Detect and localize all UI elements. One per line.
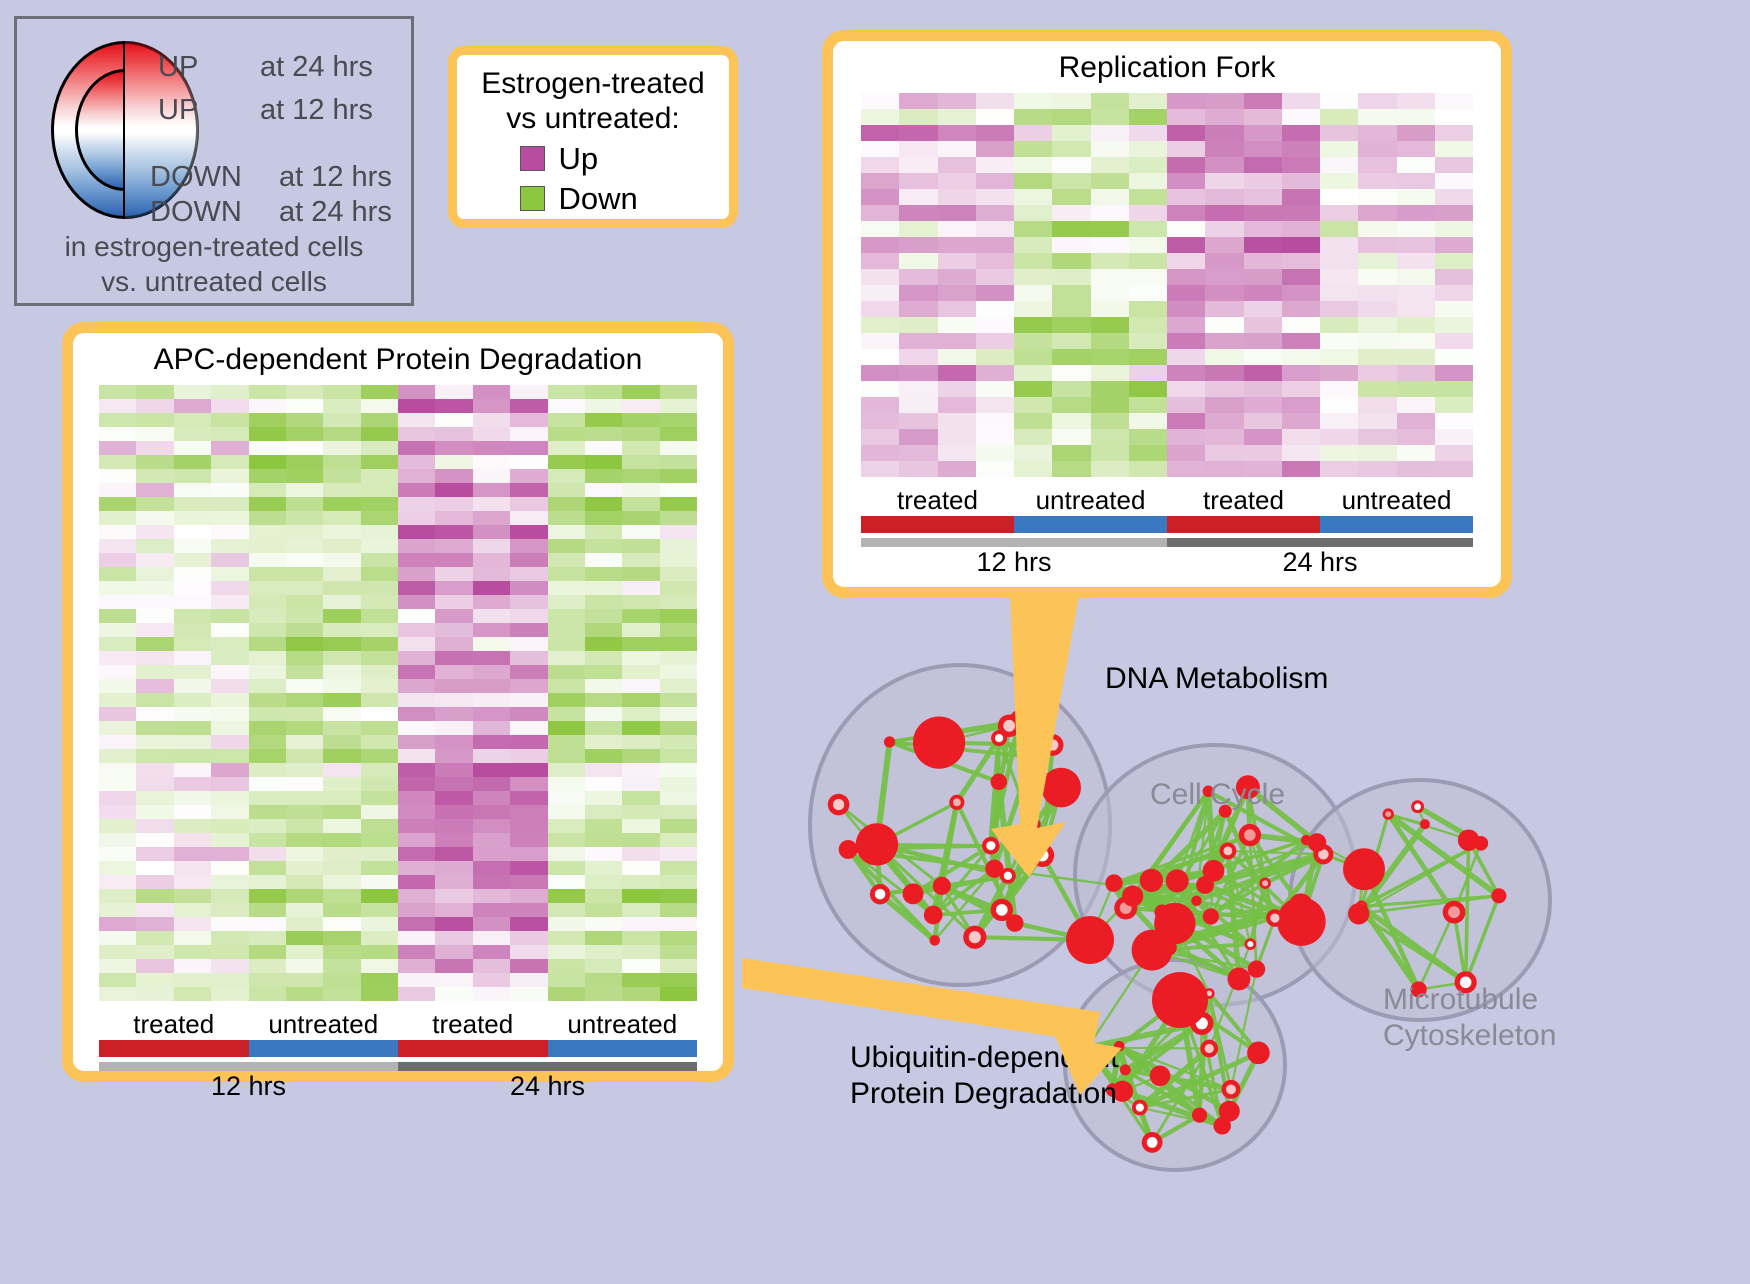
heatmap-cell (323, 931, 360, 945)
heatmap-cell (435, 819, 472, 833)
heatmap-cell (899, 141, 937, 157)
heatmap-cell (1205, 381, 1243, 397)
heatmap-cell (174, 413, 211, 427)
heatmap-cell (1397, 173, 1435, 189)
heatmap-cell (510, 651, 547, 665)
heatmap-cell (361, 875, 398, 889)
network-node[interactable] (1142, 1132, 1163, 1153)
heatmap-cell (1052, 429, 1090, 445)
heatmap-cell (1244, 413, 1282, 429)
heatmap-cell (136, 553, 173, 567)
heatmap-cell (1205, 253, 1243, 269)
heatmap-cell (622, 623, 659, 637)
heatmap-cell (211, 455, 248, 469)
heatmap-cell (473, 637, 510, 651)
heatmap-cell (1129, 173, 1167, 189)
heatmap-cell (1244, 317, 1282, 333)
heatmap-cell (174, 777, 211, 791)
network-node-outer (1006, 914, 1023, 931)
heatmap-cell (136, 833, 173, 847)
heatmap-cell (1091, 349, 1129, 365)
heatmap-cell (622, 931, 659, 945)
heatmap-cell (1091, 413, 1129, 429)
network-node[interactable] (998, 714, 1021, 737)
heatmap-cell (1320, 445, 1358, 461)
heatmap-cell (473, 427, 510, 441)
heatmap-cell (1129, 429, 1167, 445)
heatmap-cell (361, 749, 398, 763)
heatmap-cell (99, 497, 136, 511)
heatmap-cell (861, 333, 899, 349)
network-node[interactable] (991, 774, 1007, 790)
network-node[interactable] (1343, 848, 1385, 890)
network-node[interactable] (1239, 824, 1261, 846)
heatmap-cell (1282, 157, 1320, 173)
heatmap-cell (99, 693, 136, 707)
heatmap-cell (510, 665, 547, 679)
network-node-outer (1491, 888, 1506, 903)
network-node[interactable] (1196, 876, 1214, 894)
heatmap-cell (1244, 253, 1282, 269)
heatmap-cell (99, 385, 136, 399)
heatmap-cell (323, 791, 360, 805)
heatmap-cell (976, 93, 1014, 109)
heatmap-cell (211, 819, 248, 833)
ring-time-up-24: at 24 hrs (260, 51, 373, 84)
heatmap-cell (361, 833, 398, 847)
network-node[interactable] (884, 736, 895, 747)
heatmap-cell (976, 109, 1014, 125)
heatmap-cell (622, 651, 659, 665)
heatmap-cell (1091, 317, 1129, 333)
network-node-outer (1277, 897, 1326, 946)
heatmap-cell (286, 679, 323, 693)
heatmap-cell (660, 455, 697, 469)
network-node[interactable] (982, 837, 1000, 855)
heatmap-cell (622, 637, 659, 651)
heatmap-cell (510, 945, 547, 959)
network-node[interactable] (828, 794, 850, 816)
network-node[interactable] (929, 935, 940, 946)
heatmap-cell (861, 189, 899, 205)
network-node[interactable] (1041, 768, 1081, 808)
heatmap-cell (1320, 237, 1358, 253)
heatmap-cell (1052, 269, 1090, 285)
heatmap-cell (899, 109, 937, 125)
heatmap-cell (435, 749, 472, 763)
heatmap-cell (548, 805, 585, 819)
heatmap-cell (1244, 93, 1282, 109)
heatmap-cell (1244, 445, 1282, 461)
heatmap-cell (1244, 285, 1282, 301)
network-node[interactable] (1006, 914, 1023, 931)
heatmap-cell (136, 959, 173, 973)
heatmap-cell (398, 525, 435, 539)
heatmap-cell (398, 917, 435, 931)
heatmap-cell (622, 945, 659, 959)
heatmap-cell (899, 349, 937, 365)
heatmap-cell (1244, 269, 1282, 285)
heatmap-cell (435, 805, 472, 819)
heatmap-cell (473, 441, 510, 455)
heatmap-cell (473, 525, 510, 539)
heatmap-cell (861, 269, 899, 285)
heatmap-cell (136, 847, 173, 861)
heatmap-cell (398, 903, 435, 917)
heatmap-cell (510, 609, 547, 623)
heatmap-cell (1129, 301, 1167, 317)
heatmap-cell (1167, 365, 1205, 381)
heatmap-cell (361, 931, 398, 945)
heatmap-cell (1091, 157, 1129, 173)
key-box-title: Estrogen-treated vs untreated: (457, 55, 729, 137)
heatmap-cell (211, 707, 248, 721)
heatmap-cell (622, 385, 659, 399)
heatmap-cell (99, 847, 136, 861)
heatmap-cell (398, 805, 435, 819)
heatmap-cell (899, 237, 937, 253)
heatmap-cell (938, 445, 976, 461)
heatmap-cell (1358, 141, 1396, 157)
heatmap-cell (249, 861, 286, 875)
heatmap-cell (136, 399, 173, 413)
heatmap-cell (1205, 221, 1243, 237)
heatmap-cell (473, 651, 510, 665)
heatmap-cell (548, 917, 585, 931)
network-node[interactable] (1348, 903, 1369, 924)
heatmap-cell (1244, 109, 1282, 125)
heatmap-cell (249, 735, 286, 749)
network-node[interactable] (1000, 868, 1016, 884)
heatmap-cell (323, 427, 360, 441)
heatmap-cell (174, 679, 211, 693)
network-node[interactable] (1161, 940, 1177, 956)
heatmap-cell (1167, 109, 1205, 125)
network-node[interactable] (1266, 909, 1284, 927)
heatmap-cell (548, 903, 585, 917)
heatmap-cell (473, 805, 510, 819)
heatmap-cell (99, 805, 136, 819)
network-node[interactable] (1308, 833, 1327, 852)
heatmap-cell (976, 381, 1014, 397)
heatmap-cell (1435, 381, 1473, 397)
heatmap-cell (435, 483, 472, 497)
heatmap-cell (249, 777, 286, 791)
heatmap-cell (249, 539, 286, 553)
timepoint-color-bar-apc (99, 1062, 697, 1071)
network-node[interactable] (1192, 1108, 1207, 1123)
network-node[interactable] (1152, 972, 1208, 1028)
heatmap-cell (136, 763, 173, 777)
heatmap-cell (1282, 141, 1320, 157)
network-node[interactable] (1221, 1080, 1240, 1099)
heatmap-cell (861, 413, 899, 429)
heatmap-cell (323, 665, 360, 679)
network-node[interactable] (963, 926, 986, 949)
heatmap-cell (249, 469, 286, 483)
heatmap-cell (398, 791, 435, 805)
heatmap-cell (361, 399, 398, 413)
heatmap-cell (398, 553, 435, 567)
heatmap-cell (473, 609, 510, 623)
heatmap-cell (585, 791, 622, 805)
treatment-bar-segment (398, 1040, 548, 1057)
heatmap-cell (1052, 109, 1090, 125)
heatmap-cell (976, 237, 1014, 253)
column-group-label: treated (861, 485, 1014, 516)
heatmap-cell (548, 763, 585, 777)
heatmap-cell (99, 861, 136, 875)
heatmap-cell (99, 791, 136, 805)
heatmap-cell (286, 735, 323, 749)
heatmap-cell (174, 553, 211, 567)
network-node[interactable] (1203, 908, 1219, 924)
heatmap-cell (473, 973, 510, 987)
network-node[interactable] (1244, 938, 1256, 950)
heatmap-cell (548, 707, 585, 721)
heatmap-cell (548, 413, 585, 427)
heatmap-cell (473, 693, 510, 707)
heatmap-cell (1052, 333, 1090, 349)
heatmap-cell (211, 623, 248, 637)
heatmap-cell (323, 749, 360, 763)
heatmap-cell (174, 623, 211, 637)
heatmap-cell (976, 445, 1014, 461)
heatmap-cell (323, 497, 360, 511)
heatmap-cell (136, 917, 173, 931)
heatmap-cell (660, 567, 697, 581)
heatmap-cell (174, 707, 211, 721)
network-node[interactable] (1219, 1101, 1240, 1122)
heatmap-cell (398, 399, 435, 413)
heatmap-cell (510, 749, 547, 763)
network-node[interactable] (1227, 967, 1250, 990)
heatmap-cell (1091, 109, 1129, 125)
network-node[interactable] (1154, 903, 1195, 944)
heatmap-cell (473, 707, 510, 721)
heatmap-cell (1205, 109, 1243, 125)
timepoint-bar-segment (1167, 538, 1473, 547)
network-node[interactable] (1383, 808, 1394, 819)
heatmap-cell (249, 385, 286, 399)
network-node[interactable] (1248, 960, 1265, 977)
heatmap-cell (286, 903, 323, 917)
heatmap-cell (211, 931, 248, 945)
network-node[interactable] (1191, 896, 1201, 906)
heatmap-cell (286, 833, 323, 847)
heatmap-cell (1435, 285, 1473, 301)
heatmap-cell (174, 945, 211, 959)
heatmap-cell (660, 917, 697, 931)
ring-time-down-24: at 24 hrs (279, 196, 392, 229)
network-node-core (1262, 880, 1268, 886)
heatmap-cell (1129, 349, 1167, 365)
heatmap-cell (1320, 253, 1358, 269)
network-node[interactable] (1474, 836, 1489, 851)
heatmap-cell (1358, 301, 1396, 317)
network-node[interactable] (1140, 869, 1163, 892)
heatmap-cell (398, 735, 435, 749)
heatmap-cell (1435, 365, 1473, 381)
heatmap-cell (174, 427, 211, 441)
heatmap-cell (286, 609, 323, 623)
heatmap-cell (585, 763, 622, 777)
network-node[interactable] (1066, 916, 1114, 964)
network-node-core (986, 841, 995, 850)
network-node[interactable] (1411, 800, 1424, 813)
heatmap-cell (510, 959, 547, 973)
heatmap-cell (249, 553, 286, 567)
heatmap-cell (398, 861, 435, 875)
heatmap-cell (211, 497, 248, 511)
column-group-label: untreated (1320, 485, 1473, 516)
network-node[interactable] (1105, 874, 1122, 891)
heatmap-cell (548, 679, 585, 693)
network-node[interactable] (1259, 877, 1271, 889)
heatmap-cell (622, 833, 659, 847)
heatmap-cell (938, 253, 976, 269)
heatmap-cell (1052, 141, 1090, 157)
heatmap-cell (1167, 205, 1205, 221)
network-node[interactable] (1120, 1064, 1131, 1075)
network-node[interactable] (1247, 1042, 1270, 1065)
network-node[interactable] (870, 884, 890, 904)
heatmap-cell (211, 567, 248, 581)
network-node[interactable] (949, 795, 964, 810)
network-node[interactable] (924, 906, 943, 925)
heatmap-cell (136, 707, 173, 721)
heatmap-cell (286, 707, 323, 721)
network-node[interactable] (1491, 888, 1506, 903)
heatmap-cell (548, 973, 585, 987)
heatmap-cell (899, 429, 937, 445)
heatmap-cell (585, 525, 622, 539)
heatmap-cell (361, 861, 398, 875)
heatmap-cell (1052, 365, 1090, 381)
network-node[interactable] (1031, 843, 1055, 867)
network-node[interactable] (1150, 1065, 1171, 1086)
heatmap-cell (899, 381, 937, 397)
heatmap-cell (622, 595, 659, 609)
heatmap-cell (1167, 333, 1205, 349)
heatmap-cell (1244, 429, 1282, 445)
network-node-outer (1192, 1108, 1207, 1123)
heatmap-cell (1014, 253, 1052, 269)
heatmap-cell (1052, 413, 1090, 429)
timepoint-label: 24 hrs (398, 1071, 697, 1102)
heatmap-cell (899, 189, 937, 205)
heatmap-cell (585, 805, 622, 819)
network-node[interactable] (1027, 818, 1040, 831)
heatmap-cell (660, 553, 697, 567)
heatmap-cell (211, 525, 248, 539)
network-node[interactable] (913, 716, 965, 768)
heatmap-cell (323, 455, 360, 469)
heatmap-cell (211, 637, 248, 651)
heatmap-cell (548, 777, 585, 791)
heatmap-cell (976, 397, 1014, 413)
heatmap-cell (622, 987, 659, 1001)
network-node[interactable] (1122, 885, 1143, 906)
network-node[interactable] (1219, 842, 1236, 859)
heatmap-cell (938, 301, 976, 317)
ring-label-down-24: DOWN (150, 196, 242, 229)
heatmap-cell (976, 205, 1014, 221)
timepoint-bar-segment (99, 1062, 398, 1071)
heatmap-cell (249, 847, 286, 861)
heatmap-cell (1435, 317, 1473, 333)
network-node[interactable] (1277, 897, 1326, 946)
network-node-core (1155, 1070, 1166, 1081)
heatmap-cell (622, 693, 659, 707)
heatmap-cell (99, 665, 136, 679)
heatmap-cell (174, 735, 211, 749)
heatmap-cell (1205, 141, 1243, 157)
heatmap-cell (323, 693, 360, 707)
heatmap-cell (510, 777, 547, 791)
heatmap-cell (585, 707, 622, 721)
network-node[interactable] (1042, 734, 1064, 756)
timepoint-labels-replication-fork: 12 hrs24 hrs (861, 547, 1473, 578)
heatmap-cell (1320, 173, 1358, 189)
heatmap-cell (622, 805, 659, 819)
heatmap-cell (938, 413, 976, 429)
network-node[interactable] (1443, 901, 1466, 924)
network-node[interactable] (839, 840, 858, 859)
heatmap-cell (473, 413, 510, 427)
heatmap-cell (99, 455, 136, 469)
network-node-outer (1420, 819, 1430, 829)
heatmap-cell (99, 413, 136, 427)
column-group-label: untreated (1014, 485, 1167, 516)
heatmap-cell (585, 665, 622, 679)
heatmap-cell (286, 945, 323, 959)
heatmap-cell (211, 777, 248, 791)
heatmap-cell (1205, 205, 1243, 221)
heatmap-cell (323, 553, 360, 567)
heatmap-cell (473, 791, 510, 805)
heatmap-cell (136, 483, 173, 497)
network-node[interactable] (1166, 869, 1189, 892)
heatmap-cell (585, 945, 622, 959)
heatmap-cell (286, 539, 323, 553)
heatmap-cell (1167, 125, 1205, 141)
network-node[interactable] (903, 883, 924, 904)
heatmap-cell (1282, 173, 1320, 189)
heatmap-cell (1091, 237, 1129, 253)
network-node-core (995, 734, 1003, 742)
heatmap-cell (861, 397, 899, 413)
heatmap-cell (622, 707, 659, 721)
heatmap-cell (174, 903, 211, 917)
network-node[interactable] (1024, 749, 1040, 765)
heatmap-cell (473, 679, 510, 693)
heatmap-cell (660, 539, 697, 553)
network-node[interactable] (1420, 819, 1430, 829)
heatmap-cell (1052, 125, 1090, 141)
heatmap-cell (976, 461, 1014, 477)
heatmap-cell (1205, 333, 1243, 349)
heatmap-cell (473, 847, 510, 861)
network-node-outer (1027, 818, 1040, 831)
network-node[interactable] (933, 877, 951, 895)
network-node[interactable] (1200, 1040, 1218, 1058)
network-node[interactable] (856, 823, 898, 865)
network-node[interactable] (1132, 1100, 1148, 1116)
heatmap-cell (136, 945, 173, 959)
heatmap-cell (622, 917, 659, 931)
heatmap-cell (976, 253, 1014, 269)
